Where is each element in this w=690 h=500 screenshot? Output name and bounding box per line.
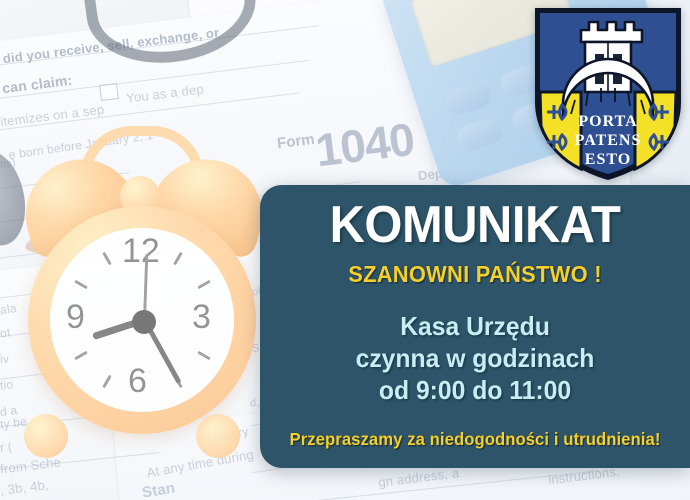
form-checkbox [99,83,119,101]
form-label-prefix: Form [276,132,315,151]
panel-title: KOMUNIKAT [273,199,677,251]
announcement-poster: did you receive, sell, exchange, or can … [0,0,690,500]
panel-footer-note: Przepraszamy za niedogodności i utrudnie… [271,429,680,450]
clock-tick [102,252,112,266]
announcement-panel: KOMUNIKAT SZANOWNI PAŃSTWO ! Kasa Urzędu… [260,185,690,468]
clock-tick [173,252,183,266]
clock-face: 12 3 6 9 [50,228,234,412]
clock-numeral-3: 3 [192,298,211,337]
clock-body: 12 3 6 9 [28,206,256,434]
panel-body-line-2: czynna w godzinach [271,342,680,374]
alarm-clock: 12 3 6 9 [8,118,276,488]
clock-foot-left [24,414,68,458]
clock-numeral-6: 6 [128,362,147,401]
clock-foot-right [196,414,240,458]
crest-motto-line-1: PORTA [578,113,637,130]
panel-body-line-1: Kasa Urzędu [271,310,680,342]
clock-numeral-12: 12 [122,232,160,271]
panel-subtitle: SZANOWNI PAŃSTWO ! [271,263,680,286]
clock-tick [102,375,112,389]
crest-motto-line-2: PATENS [575,132,642,149]
clock-tick [197,280,211,290]
clock-tick [197,351,211,361]
clock-center-pin [132,310,156,334]
clock-tick [74,280,88,290]
crest-motto-line-3: ESTO [585,151,631,168]
coat-of-arms: PORTA PATENS ESTO [529,2,687,184]
clock-tick [74,351,88,361]
panel-body-line-3: od 9:00 do 11:00 [271,374,680,406]
panel-body: Kasa Urzędu czynna w godzinach od 9:00 d… [271,310,680,407]
clock-numeral-9: 9 [66,298,85,337]
calculator-key [442,79,494,118]
calculator-key [454,115,506,154]
